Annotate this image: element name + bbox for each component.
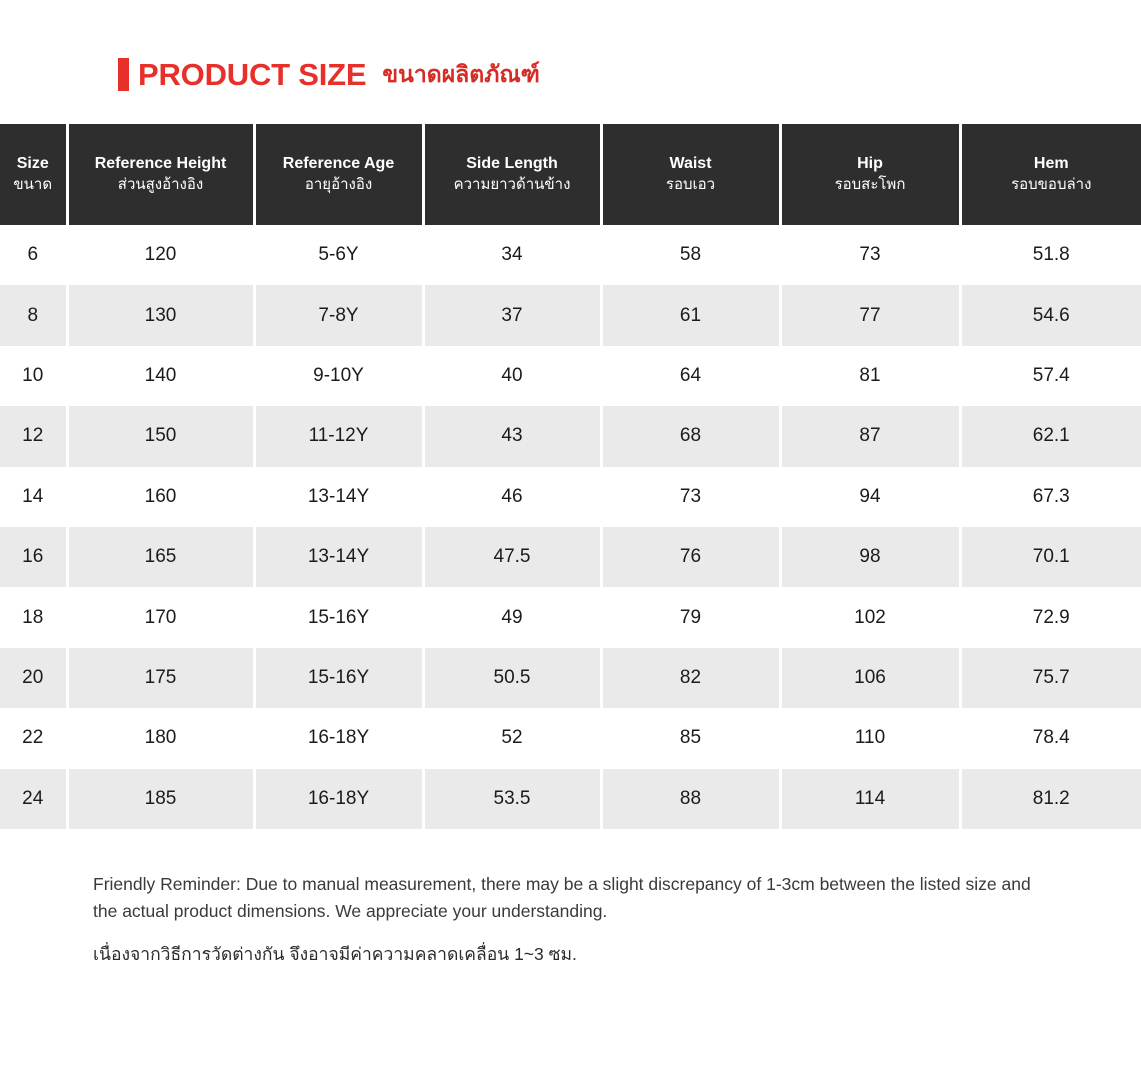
column-header-waist-en: Waist [607, 154, 775, 174]
table-cell: 12 [0, 406, 67, 466]
table-row: 2017515-16Y50.58210675.7 [0, 648, 1141, 708]
table-cell: 5-6Y [254, 225, 423, 285]
table-cell: 43 [423, 406, 601, 466]
column-header-side-length: Side Length ความยาวด้านข้าง [423, 124, 601, 225]
table-cell: 58 [601, 225, 780, 285]
table-cell: 15-16Y [254, 648, 423, 708]
table-cell: 114 [780, 769, 960, 829]
table-cell: 165 [67, 527, 254, 587]
page-title: PRODUCT SIZE ขนาดผลิตภัณฑ์ [0, 0, 1141, 74]
table-cell: 130 [67, 285, 254, 345]
table-cell: 102 [780, 587, 960, 647]
footer-notes: Friendly Reminder: Due to manual measure… [0, 871, 1141, 968]
table-cell: 18 [0, 587, 67, 647]
table-header-row: Size ขนาด Reference Height ส่วนสูงอ้างอิ… [0, 124, 1141, 225]
table-cell: 50.5 [423, 648, 601, 708]
table-cell: 77 [780, 285, 960, 345]
table-cell: 53.5 [423, 769, 601, 829]
column-header-hip-en: Hip [786, 154, 955, 174]
table-row: 1817015-16Y497910272.9 [0, 587, 1141, 647]
table-cell: 22 [0, 708, 67, 768]
table-cell: 14 [0, 467, 67, 527]
table-cell: 79 [601, 587, 780, 647]
column-header-hip: Hip รอบสะโพก [780, 124, 960, 225]
table-cell: 76 [601, 527, 780, 587]
table-cell: 46 [423, 467, 601, 527]
column-header-side-length-th: ความยาวด้านข้าง [429, 175, 596, 195]
table-cell: 140 [67, 346, 254, 406]
table-cell: 185 [67, 769, 254, 829]
table-cell: 16 [0, 527, 67, 587]
table-cell: 150 [67, 406, 254, 466]
column-header-size-en: Size [4, 154, 62, 174]
table-cell: 8 [0, 285, 67, 345]
table-body: 61205-6Y34587351.881307-8Y37617754.61014… [0, 225, 1141, 829]
table-row: 61205-6Y34587351.8 [0, 225, 1141, 285]
note-thai: เนื่องจากวิธีการวัดต่างกัน จึงอาจมีค่าคว… [93, 941, 1046, 968]
table-cell: 20 [0, 648, 67, 708]
product-size-table: Size ขนาด Reference Height ส่วนสูงอ้างอิ… [0, 124, 1141, 829]
table-cell: 68 [601, 406, 780, 466]
table-cell: 40 [423, 346, 601, 406]
table-cell: 64 [601, 346, 780, 406]
table-cell: 110 [780, 708, 960, 768]
table-cell: 57.4 [960, 346, 1141, 406]
column-header-reference-age-th: อายุอ้างอิง [260, 175, 418, 195]
table-cell: 81 [780, 346, 960, 406]
column-header-reference-height: Reference Height ส่วนสูงอ้างอิง [67, 124, 254, 225]
table-cell: 87 [780, 406, 960, 466]
table-cell: 73 [780, 225, 960, 285]
column-header-hem: Hem รอบขอบล่าง [960, 124, 1141, 225]
table-cell: 16-18Y [254, 708, 423, 768]
table-cell: 160 [67, 467, 254, 527]
table-cell: 6 [0, 225, 67, 285]
table-cell: 51.8 [960, 225, 1141, 285]
table-cell: 94 [780, 467, 960, 527]
title-thai: ขนาดผลิตภัณฑ์ [382, 63, 539, 86]
table-cell: 67.3 [960, 467, 1141, 527]
table-cell: 82 [601, 648, 780, 708]
column-header-reference-age: Reference Age อายุอ้างอิง [254, 124, 423, 225]
table-cell: 88 [601, 769, 780, 829]
table-row: 1215011-12Y43688762.1 [0, 406, 1141, 466]
table-cell: 9-10Y [254, 346, 423, 406]
table-header: Size ขนาด Reference Height ส่วนสูงอ้างอิ… [0, 124, 1141, 225]
column-header-reference-height-en: Reference Height [73, 154, 249, 174]
column-header-size: Size ขนาด [0, 124, 67, 225]
table-cell: 120 [67, 225, 254, 285]
table-cell: 73 [601, 467, 780, 527]
table-cell: 34 [423, 225, 601, 285]
table-cell: 24 [0, 769, 67, 829]
table-cell: 70.1 [960, 527, 1141, 587]
table-row: 2418516-18Y53.58811481.2 [0, 769, 1141, 829]
accent-bar-icon [118, 58, 129, 91]
table-cell: 98 [780, 527, 960, 587]
size-table-container: Size ขนาด Reference Height ส่วนสูงอ้างอิ… [0, 124, 1141, 829]
column-header-hem-en: Hem [966, 154, 1138, 174]
table-cell: 170 [67, 587, 254, 647]
table-cell: 180 [67, 708, 254, 768]
column-header-size-th: ขนาด [4, 175, 62, 195]
table-cell: 10 [0, 346, 67, 406]
table-cell: 49 [423, 587, 601, 647]
table-cell: 81.2 [960, 769, 1141, 829]
column-header-hip-th: รอบสะโพก [786, 175, 955, 195]
table-cell: 15-16Y [254, 587, 423, 647]
table-cell: 85 [601, 708, 780, 768]
note-english: Friendly Reminder: Due to manual measure… [93, 871, 1043, 925]
table-cell: 7-8Y [254, 285, 423, 345]
column-header-hem-th: รอบขอบล่าง [966, 175, 1138, 195]
table-cell: 13-14Y [254, 467, 423, 527]
title-english: PRODUCT SIZE [138, 59, 366, 90]
table-cell: 37 [423, 285, 601, 345]
table-row: 1616513-14Y47.5769870.1 [0, 527, 1141, 587]
table-cell: 62.1 [960, 406, 1141, 466]
column-header-waist-th: รอบเอว [607, 175, 775, 195]
column-header-reference-height-th: ส่วนสูงอ้างอิง [73, 175, 249, 195]
table-row: 101409-10Y40648157.4 [0, 346, 1141, 406]
table-cell: 47.5 [423, 527, 601, 587]
table-cell: 175 [67, 648, 254, 708]
column-header-waist: Waist รอบเอว [601, 124, 780, 225]
table-cell: 16-18Y [254, 769, 423, 829]
column-header-side-length-en: Side Length [429, 154, 596, 174]
table-cell: 52 [423, 708, 601, 768]
table-cell: 11-12Y [254, 406, 423, 466]
table-cell: 75.7 [960, 648, 1141, 708]
table-cell: 61 [601, 285, 780, 345]
table-cell: 72.9 [960, 587, 1141, 647]
table-cell: 106 [780, 648, 960, 708]
column-header-reference-age-en: Reference Age [260, 154, 418, 174]
table-row: 1416013-14Y46739467.3 [0, 467, 1141, 527]
table-cell: 13-14Y [254, 527, 423, 587]
table-row: 81307-8Y37617754.6 [0, 285, 1141, 345]
table-cell: 78.4 [960, 708, 1141, 768]
table-cell: 54.6 [960, 285, 1141, 345]
table-row: 2218016-18Y528511078.4 [0, 708, 1141, 768]
